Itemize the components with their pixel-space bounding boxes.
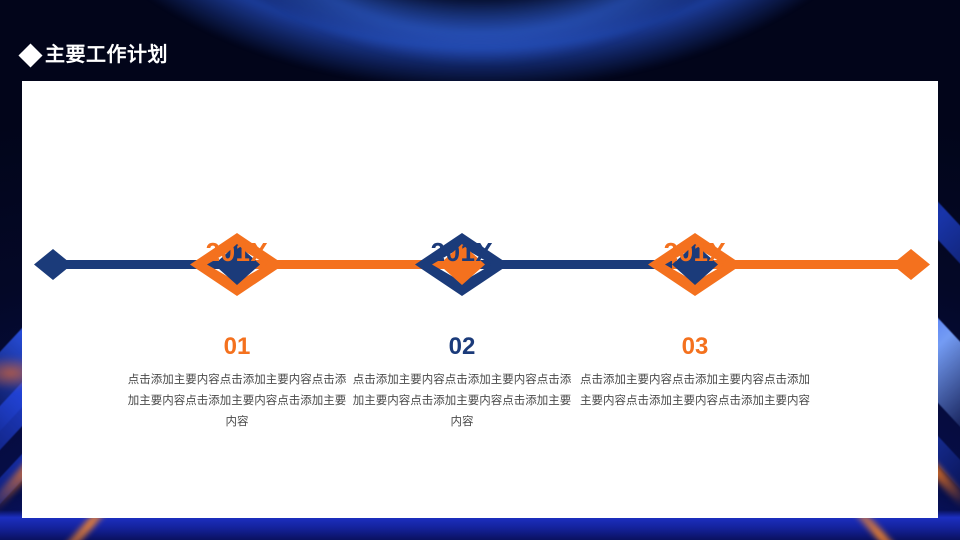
content-card: 201X 01 点击添加主要内容点击添加主要内容点击添加主要内容点击添加主要内容… <box>22 81 938 518</box>
diamond-marker-start <box>34 249 72 280</box>
timeline-year-1: 201X <box>206 237 269 268</box>
timeline-description-3: 点击添加主要内容点击添加主要内容点击添加主要内容点击添加主要内容点击添加主要内容 <box>579 369 811 411</box>
diamond-icon <box>18 43 42 67</box>
slide-title-row: 主要工作计划 <box>22 45 168 65</box>
timeline-year-2: 201X <box>431 237 494 268</box>
slide-root: 主要工作计划 <box>0 0 960 540</box>
timeline-number-3: 03 <box>682 333 709 361</box>
timeline-graphics <box>22 81 938 518</box>
diamond-marker-end <box>892 249 930 280</box>
timeline-description-1: 点击添加主要内容点击添加主要内容点击添加主要内容点击添加主要内容点击添加主要内容 <box>127 369 347 432</box>
timeline-number-2: 02 <box>449 333 476 361</box>
timeline-number-1: 01 <box>224 333 251 361</box>
timeline-description-2: 点击添加主要内容点击添加主要内容点击添加主要内容点击添加主要内容点击添加主要内容 <box>352 369 572 432</box>
timeline-diagram: 201X 01 点击添加主要内容点击添加主要内容点击添加主要内容点击添加主要内容… <box>22 81 938 518</box>
page-title: 主要工作计划 <box>45 45 168 65</box>
timeline-year-3: 201X <box>664 237 727 268</box>
